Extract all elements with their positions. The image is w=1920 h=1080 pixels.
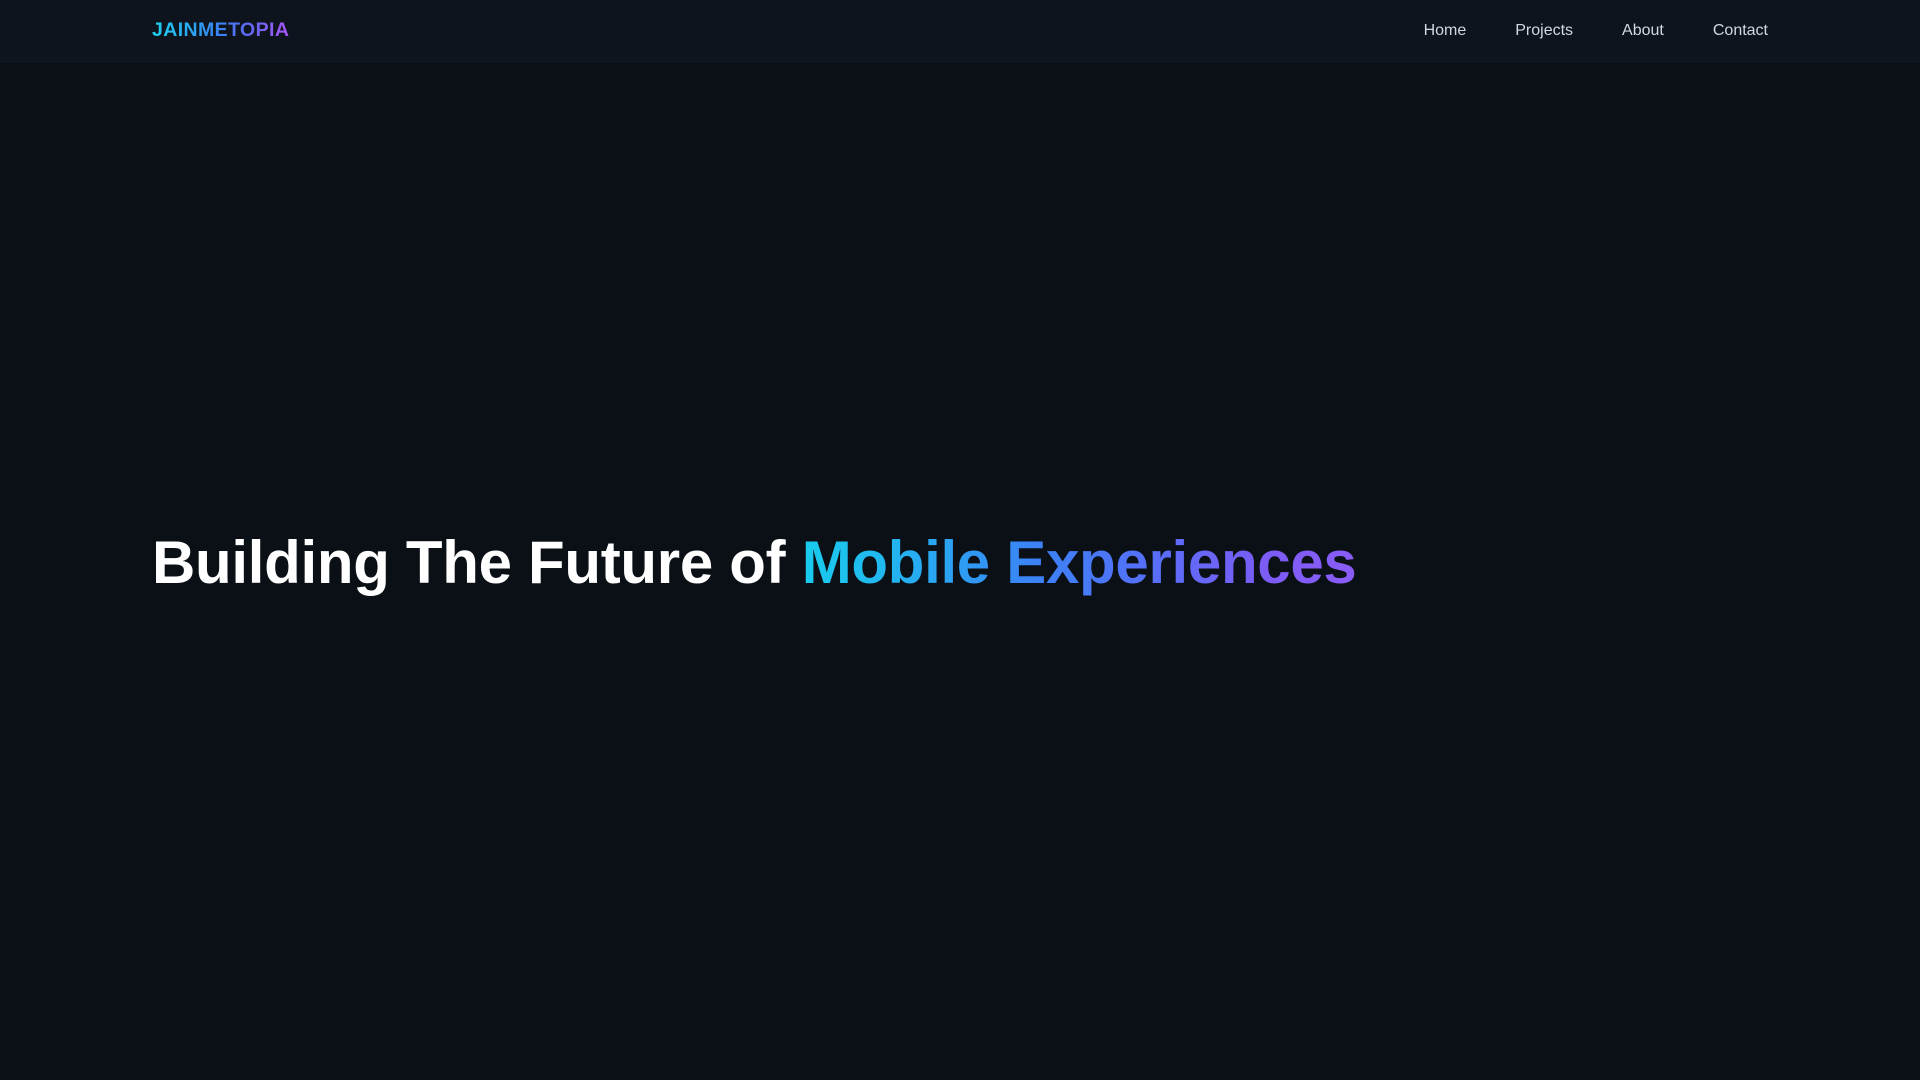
nav-link-about[interactable]: About (1622, 23, 1664, 39)
hero-headline-plain: Building The Future of (152, 529, 802, 596)
nav-link-projects[interactable]: Projects (1515, 23, 1573, 39)
main-nav: Home Projects About Contact (1424, 23, 1768, 39)
hero-headline: Building The Future of Mobile Experience… (152, 528, 1768, 597)
nav-link-contact[interactable]: Contact (1713, 23, 1768, 39)
hero-content: Building The Future of Mobile Experience… (0, 528, 1920, 597)
nav-link-home[interactable]: Home (1424, 23, 1467, 39)
hero-section: Building The Future of Mobile Experience… (0, 62, 1920, 1080)
brand-logo[interactable]: JAINMETOPIA (152, 19, 289, 42)
site-header: JAINMETOPIA Home Projects About Contact (0, 0, 1920, 62)
hero-headline-gradient: Mobile Experiences (802, 529, 1357, 596)
